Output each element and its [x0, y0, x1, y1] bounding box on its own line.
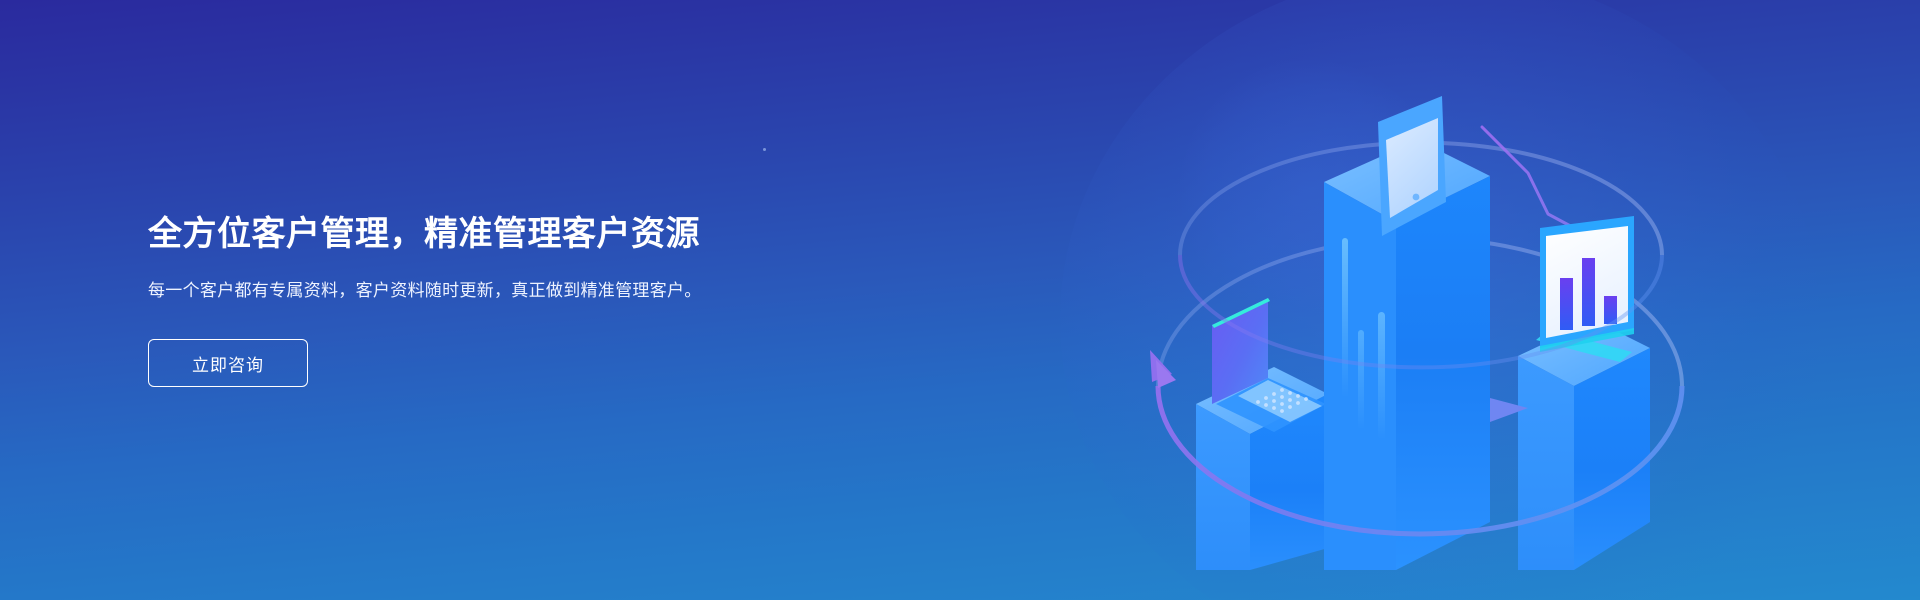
hero-subcopy: 每一个客户都有专属资料，客户资料随时更新，真正做到精准管理客户。 — [148, 277, 702, 305]
hero-copy-block: 全方位客户管理，精准管理客户资源 每一个客户都有专属资料，客户资料随时更新，真正… — [148, 0, 788, 600]
illustration-svg — [1150, 30, 1690, 570]
consult-now-button[interactable]: 立即咨询 — [148, 339, 308, 387]
page-title: 全方位客户管理，精准管理客户资源 — [148, 213, 700, 256]
hero-illustration — [1150, 30, 1690, 570]
hero-banner: 全方位客户管理，精准管理客户资源 每一个客户都有专属资料，客户资料随时更新，真正… — [0, 0, 1920, 600]
right-pillar — [1518, 320, 1650, 570]
